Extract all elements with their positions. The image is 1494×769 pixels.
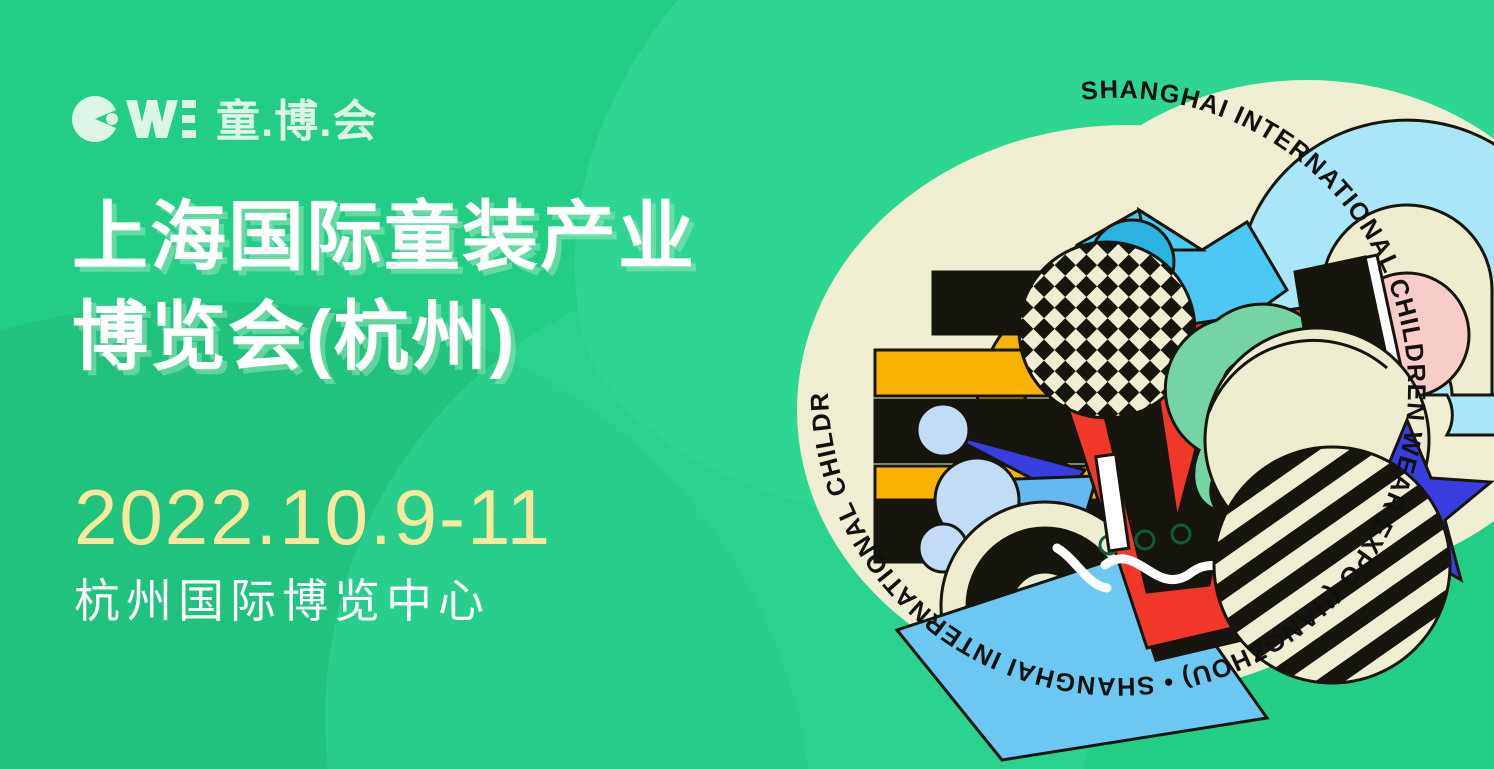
event-date: 2022.10.9-11 [74,478,552,556]
cwe-pacman-logo-icon [72,96,196,147]
poster-canvas: 童.博.会 上海国际童装产业 博览会(杭州) 2022.10.9-11 杭州国际… [0,0,1494,769]
page-title: 上海国际童装产业 博览会(杭州) [72,188,696,389]
collage-illustration: SHANGHAI INTERNATIONAL CHILDREN WEAR EXP… [747,0,1494,769]
logo-wordmark: 童.博.会 [216,100,377,144]
title-line-2: 博览会(杭州) [72,288,696,388]
title-line-1: 上海国际童装产业 [72,188,696,288]
brand-logo: 童.博.会 [72,96,377,147]
event-venue: 杭州国际博览中心 [74,578,490,624]
